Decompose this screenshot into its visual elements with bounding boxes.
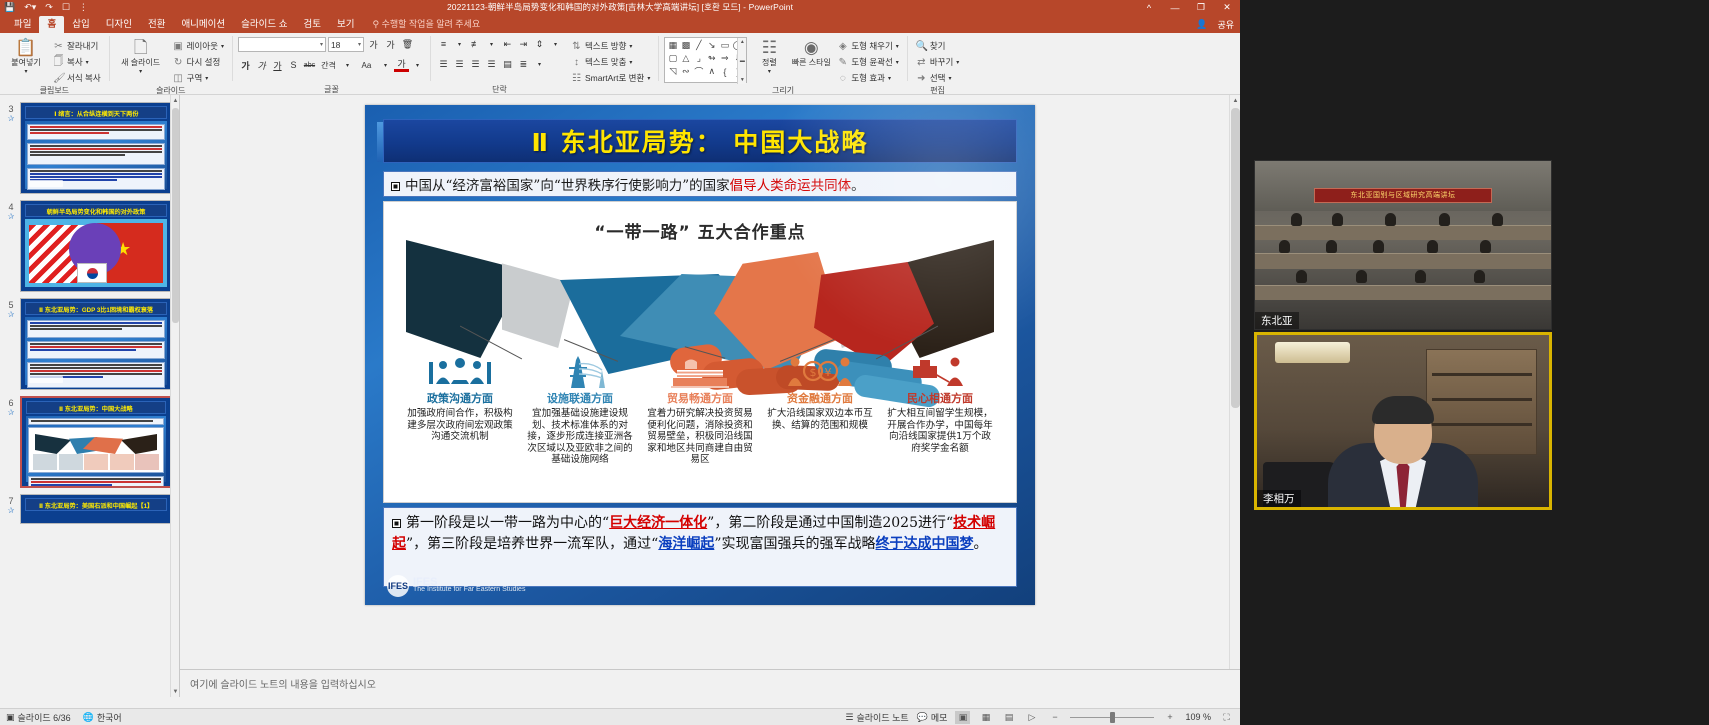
- people-exchange-icon: [886, 352, 994, 388]
- replace-icon: ⇄: [916, 57, 927, 68]
- participant-name-2: 李相万: [1257, 490, 1301, 507]
- language-indicator[interactable]: 🌐 한국어: [83, 711, 122, 724]
- infographic-column-trade: 贸易畅通方面 宜着力研究解决投资贸易便利化问题，消除投资和贸易壁垒，积极同沿线国…: [646, 352, 754, 502]
- zoom-in-button[interactable]: +: [1162, 711, 1177, 724]
- quick-styles-button[interactable]: ◉ 빠른 스타일: [791, 37, 831, 67]
- decrease-indent-icon[interactable]: ⇤: [500, 37, 515, 51]
- thumb-title-bar: Ⅰ 绪言：从合纵连横到天下两份: [25, 106, 167, 119]
- character-spacing-button[interactable]: 간격: [318, 58, 339, 72]
- editor-vertical-scrollbar[interactable]: ▲ ▼: [1229, 95, 1240, 697]
- thumb-text-block: [27, 320, 165, 338]
- language-label: 한국어: [97, 711, 122, 724]
- attendee: [1291, 213, 1302, 226]
- chevron-down-icon[interactable]: ▾: [24, 68, 27, 75]
- power-tower-icon: [526, 352, 634, 388]
- tell-me-box[interactable]: ⚲ 수행할 작업을 알려 주세요: [372, 17, 480, 33]
- notes-toggle-button[interactable]: ☰ 슬라이드 노트: [845, 711, 908, 724]
- thumb-title: 朝鲜半岛局势变化和韩国的对外政策: [47, 206, 146, 216]
- ifes-logo: IFES IFES The Institute for Far Eastern …: [387, 575, 525, 597]
- hall-wall: [1255, 161, 1551, 211]
- infographic-columns: 政策沟通方面 加强政府间合作，积极构建多层次政府间宏观政策沟通交流机制: [384, 352, 1016, 502]
- svg-text:$: $: [810, 366, 817, 379]
- ribbon-tab-bar: 파일 홈 삽입 디자인 전환 애니메이션 슬라이드 쇼 검토 보기 ⚲ 수행할 …: [0, 15, 1240, 33]
- chevron-down-icon[interactable]: ▾: [948, 75, 951, 82]
- attendee: [1332, 213, 1343, 226]
- elbow-connector-icon[interactable]: ⌟: [692, 52, 705, 65]
- chevron-down-icon[interactable]: ▾: [410, 58, 425, 72]
- chevron-down-icon[interactable]: ▾: [548, 37, 563, 51]
- thumb-text-block: [28, 476, 164, 488]
- bottom-highlight-1: 巨大经济一体化: [609, 515, 707, 531]
- increase-font-size-button[interactable]: 가: [366, 38, 381, 52]
- chevron-down-icon[interactable]: ▾: [896, 43, 899, 50]
- notes-toggle-label: 슬라이드 노트: [857, 711, 909, 724]
- font-size-input[interactable]: 18 ▾: [328, 37, 364, 52]
- tab-design[interactable]: 디자인: [98, 16, 140, 33]
- participant-tile-2-active[interactable]: 李相万: [1254, 332, 1552, 510]
- line-spacing-icon[interactable]: ⇕: [532, 37, 547, 51]
- bottom-highlight-3: 海洋崛起: [658, 536, 714, 552]
- right-arrow-shape-icon[interactable]: ⇒: [718, 52, 731, 65]
- tab-file[interactable]: 파일: [6, 16, 39, 33]
- chevron-down-icon[interactable]: ▾: [340, 58, 355, 72]
- italic-button[interactable]: 가: [254, 58, 269, 72]
- speaker-video: [1257, 335, 1549, 507]
- currency-exchange-icon: $ ¥: [766, 352, 874, 388]
- animation-star-icon: ✰: [2, 506, 20, 515]
- freeform-shape-icon[interactable]: ◹: [666, 65, 679, 78]
- justify-icon[interactable]: ☰: [484, 57, 499, 71]
- handshake-graphic: [384, 234, 1016, 369]
- left-brace-icon[interactable]: {: [718, 65, 731, 78]
- attendee: [1385, 213, 1396, 226]
- convert-smartart-label: SmartArt로 변환: [585, 72, 644, 84]
- thumb-title-bar: Ⅱ 东北亚局势：美国右派和中国崛起【1】: [25, 498, 167, 511]
- thumb-title: Ⅱ 东北亚局势：美国右派和中国崛起【1】: [39, 500, 153, 510]
- thumb-title-bar: Ⅱ 东北亚局势：GDP 3比1困境和霸权衰落: [25, 302, 167, 315]
- lecture-hall-video: 东北亚国别与区域研究高端讲坛: [1255, 161, 1551, 329]
- thumbnail-meta: 7 ✰: [2, 494, 20, 524]
- column-heading: 设施联通方面: [526, 390, 634, 406]
- column-heading: 资金融通方面: [766, 390, 874, 406]
- bullet-quote-2: “世界秩序行使影响力”: [554, 178, 689, 194]
- tab-view[interactable]: 보기: [329, 16, 362, 33]
- shape-fill-label: 도형 채우기: [851, 40, 892, 52]
- section-label: 구역: [187, 72, 203, 84]
- title-accent-bar: [377, 122, 383, 162]
- tab-insert[interactable]: 삽입: [64, 16, 97, 33]
- powerpoint-window: 💾 ↶▾ ↷ ☐ ⋮ 20221123-朝鲜半岛局势变化和韩国的对外政策[吉林大…: [0, 0, 1240, 725]
- comment-icon: 💬: [917, 712, 928, 723]
- chevron-down-icon[interactable]: ▾: [484, 37, 499, 51]
- slide-title-placeholder[interactable]: Ⅱ 东北亚局势： 中国大战略: [383, 119, 1017, 163]
- slide-number: 4: [2, 202, 20, 212]
- scroll-up-icon[interactable]: ▲: [740, 39, 745, 45]
- hall-desk-row-3: [1254, 285, 1552, 300]
- triangle-shape-icon[interactable]: △: [679, 52, 692, 65]
- scroll-thumb[interactable]: [1231, 108, 1240, 408]
- align-center-icon[interactable]: ☰: [452, 57, 467, 71]
- comments-label: 메모: [931, 711, 948, 724]
- bottom-part-3: ，第三阶段是培养世界一流军队，通过: [413, 536, 651, 552]
- attendee: [1439, 213, 1450, 226]
- font-size-value: 18: [331, 40, 340, 50]
- infographic-column-finance: $ ¥ 资金融通方面 扩大沿线国家双边本币互换、结算的范围和规模: [766, 352, 874, 502]
- group-paragraph-extra: ⇅ 텍스트 방향 ▾ ↕ 텍스트 맞춤 ▾ ☷ SmartArt로 변환: [568, 33, 658, 95]
- thumb-body: ★: [25, 219, 167, 287]
- chevron-down-icon[interactable]: ▾: [221, 43, 224, 50]
- arrow-shape-icon[interactable]: ↘: [705, 39, 718, 52]
- thumbnail-preview[interactable]: Ⅱ 东北亚局势：GDP 3比1困境和霸权衰落: [20, 298, 172, 390]
- chevron-down-icon[interactable]: ▾: [768, 68, 771, 75]
- tab-home[interactable]: 홈: [39, 16, 64, 33]
- find-label: 찾기: [930, 40, 946, 52]
- attendee: [1296, 270, 1307, 283]
- shape-gallery[interactable]: ▦ ▩ ╱ ↘ ▭ ◯ ▢ △ ⌟ ↬ ⇒ ⇓ ◹ ∾ ⌒: [664, 37, 747, 83]
- zoom-out-button[interactable]: −: [1047, 711, 1062, 724]
- new-slide-label: 새 슬라이드: [121, 58, 160, 67]
- section-icon: ◫: [173, 73, 184, 84]
- slide-title-text: Ⅱ 东北亚局势： 中国大战略: [532, 123, 869, 159]
- scroll-thumb[interactable]: [172, 108, 179, 323]
- copy-icon: 🗍: [53, 54, 64, 71]
- tab-transitions[interactable]: 전환: [140, 16, 173, 33]
- paste-icon: 📋: [15, 39, 36, 57]
- animation-star-icon: ✰: [2, 408, 20, 417]
- hall-desk-row-2: [1254, 253, 1552, 268]
- font-name-input[interactable]: ▾: [238, 37, 326, 52]
- select-label: 선택: [930, 72, 946, 84]
- slide-sorter-icon[interactable]: ▦: [978, 711, 993, 724]
- column-body: 宜加强基础设施建设规划、技术标准体系的对接，逐步形成连接亚洲各次区域以及亚欧非之…: [526, 408, 634, 466]
- video-panel-top-filler: [1240, 0, 1709, 160]
- chevron-down-icon[interactable]: ▾: [452, 37, 467, 51]
- column-body: 扩大相互间留学生规模，开展合作办学，中国每年向沿线国家提供1万个政府奖学金名额: [886, 408, 994, 454]
- group-drawing: ▦ ▩ ╱ ↘ ▭ ◯ ▢ △ ⌟ ↬ ⇒ ⇓ ◹ ∾ ⌒: [659, 33, 906, 95]
- font-color-button[interactable]: 가: [394, 58, 409, 72]
- ribbon-collapse-icon[interactable]: ^: [1136, 0, 1162, 15]
- scissors-icon: ✂: [53, 41, 64, 52]
- title-bar: 💾 ↶▾ ↷ ☐ ⋮ 20221123-朝鲜半岛局势变化和韩国的对外政策[吉林大…: [0, 0, 1240, 15]
- bottom-part-5: 。: [974, 536, 988, 552]
- belt-road-infographic[interactable]: “一带一路” 五大合作重点: [383, 201, 1017, 503]
- bullet-end: 。: [851, 178, 865, 194]
- layout-icon: ▣: [173, 41, 184, 52]
- hall-banner: 东北亚国别与区域研究高端讲坛: [1314, 188, 1492, 203]
- group-font: ▾ 18 ▾ 가 가 🗑 가 가 가 S: [233, 33, 430, 95]
- thumbnail-item-6[interactable]: 6 ✰ Ⅱ 东北亚局势：中国大战略: [0, 393, 179, 491]
- thumb-body: [26, 416, 166, 482]
- bullet-suffix: 的国家: [689, 178, 730, 194]
- ifes-logo-text: IFES The Institute for Far Eastern Studi…: [413, 578, 525, 594]
- share-button[interactable]: 공유: [1217, 18, 1234, 31]
- reset-button[interactable]: ↻ 다시 설정: [170, 55, 227, 69]
- shape-outline-label: 도형 윤곽선: [851, 56, 892, 68]
- comments-button[interactable]: 💬 메모: [917, 711, 948, 724]
- chevron-down-icon[interactable]: ▾: [86, 59, 89, 66]
- change-case-button[interactable]: Aa: [356, 58, 377, 72]
- align-text-label: 텍스트 맞춤: [585, 56, 626, 68]
- svg-text:¥: ¥: [825, 366, 832, 379]
- shape-effects-label: 도형 효과: [851, 72, 885, 84]
- column-body: 宜着力研究解决投资贸易便利化问题，消除投资和贸易壁垒，积极同沿线国家和地区共同商…: [646, 408, 754, 466]
- minimize-button[interactable]: —: [1162, 0, 1188, 15]
- callout-shape-icon[interactable]: ▩: [679, 39, 692, 52]
- group-editing: 🔍 찾기 ⇄ 바꾸기 ▾ ➜ 선택 ▾: [908, 33, 967, 95]
- arrange-button[interactable]: ☷ 정렬 ▾: [750, 37, 788, 75]
- account-icon[interactable]: 👤: [1196, 19, 1207, 30]
- text-direction-button[interactable]: ⇅ 텍스트 방향 ▾: [568, 39, 653, 53]
- chevron-down-icon[interactable]: ▾: [378, 58, 393, 72]
- clear-formatting-icon[interactable]: 🗑: [400, 38, 415, 52]
- ifes-subtitle: The Institute for Far Eastern Studies: [413, 586, 525, 593]
- layout-button[interactable]: ▣ 레이아웃 ▾: [170, 39, 227, 53]
- tab-slideshow[interactable]: 슬라이드 쇼: [233, 16, 295, 33]
- bullet-square-icon: [392, 519, 401, 528]
- attendee: [1427, 240, 1438, 253]
- rectangle-shape-icon[interactable]: ▭: [718, 39, 731, 52]
- notes-pane[interactable]: 여기에 슬라이드 노트의 내용을 입력하십시오: [180, 669, 1240, 697]
- brush-icon: 🖌: [53, 73, 64, 84]
- bottom-part-1: 第一阶段是以一带一路为中心的: [406, 515, 602, 531]
- bullets-icon[interactable]: ≡: [436, 37, 451, 51]
- curved-arrow-icon[interactable]: ↬: [705, 52, 718, 65]
- thumbnail-preview[interactable]: 朝鲜半岛局势变化和韩国的对外政策 ★: [20, 200, 172, 292]
- zoom-level-label[interactable]: 109 %: [1185, 712, 1211, 722]
- slideshow-icon[interactable]: ▷: [1024, 711, 1039, 724]
- shape-gallery-scrollbar[interactable]: ▲ ▬ ▼: [737, 38, 746, 84]
- reading-view-icon[interactable]: ▤: [1001, 711, 1016, 724]
- close-button[interactable]: ✕: [1214, 0, 1240, 15]
- slide-icon: ▣: [6, 712, 15, 723]
- chevron-down-icon[interactable]: ▾: [139, 68, 142, 75]
- lightbulb-icon: ⚲: [372, 19, 379, 29]
- thumbnail-preview[interactable]: Ⅰ 绪言：从合纵连横到天下两份: [20, 102, 172, 194]
- text-direction-small-icon[interactable]: ≣: [516, 57, 531, 71]
- decrease-font-size-button[interactable]: 가: [383, 38, 398, 52]
- chevron-down-icon[interactable]: ▾: [629, 59, 632, 66]
- chevron-down-icon[interactable]: ▾: [358, 41, 361, 48]
- cut-button[interactable]: ✂ 잘라내기: [50, 39, 104, 53]
- policy-meeting-icon: [406, 352, 514, 388]
- slide-editor[interactable]: Ⅱ 东北亚局势： 中国大战略 中国从“经济富裕国家”向“世界秩序行使影响力”的国…: [180, 95, 1240, 697]
- chevron-down-icon[interactable]: ▾: [896, 59, 899, 66]
- group-clipboard: 📋 붙여넣기 ▾ ✂ 잘라내기 🗍 복사 ▾: [0, 33, 109, 95]
- thumb-text-block: [27, 341, 165, 359]
- slide-number: 3: [2, 104, 20, 114]
- speaker-figure: [1321, 400, 1485, 507]
- smartart-icon: ☷: [571, 73, 582, 84]
- slide-top-bullet-text: 中国从“经济富裕国家”向“世界秩序行使影响力”的国家倡导人类命运共同体。: [391, 174, 865, 194]
- chevron-down-icon[interactable]: ▾: [888, 75, 891, 82]
- chevron-down-icon[interactable]: ▾: [647, 75, 650, 82]
- line-shape-icon[interactable]: ╱: [692, 39, 705, 52]
- group-label-paragraph: 단락: [436, 84, 563, 95]
- scroll-up-icon[interactable]: ▲: [1230, 95, 1240, 107]
- participant-tile-1[interactable]: 东北亚国别与区域研究高端讲坛 东北亚: [1254, 160, 1552, 330]
- zoom-slider[interactable]: [1070, 711, 1154, 724]
- effects-icon: ◌: [837, 73, 848, 84]
- align-left-icon[interactable]: ☰: [436, 57, 451, 71]
- search-icon: 🔍: [916, 41, 927, 52]
- screen-root: 💾 ↶▾ ↷ ☐ ⋮ 20221123-朝鲜半岛局势变化和韩国的对外政策[吉林大…: [0, 0, 1709, 725]
- replace-label: 바꾸기: [930, 56, 953, 68]
- slide-number: 6: [2, 398, 20, 408]
- textbox-shape-icon[interactable]: ▦: [666, 39, 679, 52]
- thumb-logo: [29, 180, 63, 187]
- paste-button[interactable]: 📋 붙여넣기 ▾: [5, 37, 47, 75]
- thumbnail-preview-selected[interactable]: Ⅱ 东北亚局势：中国大战略: [20, 396, 172, 488]
- convert-smartart-button[interactable]: ☷ SmartArt로 변환 ▾: [568, 71, 653, 85]
- increase-indent-icon[interactable]: ⇥: [516, 37, 531, 51]
- thumbnail-meta: 4 ✰: [2, 200, 20, 292]
- chevron-down-icon[interactable]: ▾: [320, 41, 323, 48]
- bottom-highlight-4: 终于达成中国梦: [876, 536, 974, 552]
- attendee: [1356, 270, 1367, 283]
- thumbnail-meta: 6 ✰: [2, 396, 20, 488]
- thumb-logo: [29, 376, 63, 383]
- thumbnail-item-7[interactable]: 7 ✰ Ⅱ 东北亚局势：美国右派和中国崛起【1】: [0, 491, 179, 527]
- reset-label: 다시 설정: [187, 56, 221, 68]
- slide-counter-label: 슬라이드 6/36: [18, 711, 71, 724]
- arc-shape-icon[interactable]: ⌒: [692, 65, 705, 78]
- group-paragraph: ≡ ▾ ≢ ▾ ⇤ ⇥ ⇕ ▾ ☰ ☰ ☰ ☰ ▤: [431, 33, 568, 95]
- text-shadow-button[interactable]: S: [286, 58, 301, 72]
- copy-button[interactable]: 🗍 복사 ▾: [50, 55, 104, 69]
- chevron-down-icon[interactable]: ▾: [629, 43, 632, 50]
- fit-to-window-icon[interactable]: ⛶: [1219, 711, 1234, 724]
- arrange-icon: ☷: [762, 39, 777, 57]
- hall-desk-row-1: [1254, 225, 1552, 240]
- fill-bucket-icon: ◈: [837, 41, 848, 52]
- thumb-text-block: [28, 418, 164, 425]
- infographic-column-people: 民心相通方面 扩大相互间留学生规模，开展合作办学，中国每年向沿线国家提供1万个政…: [886, 352, 994, 502]
- cut-label: 잘라내기: [67, 40, 98, 52]
- scroll-down-icon[interactable]: ▼: [171, 686, 180, 697]
- zoom-handle[interactable]: [1110, 712, 1115, 723]
- tab-animations[interactable]: 애니메이션: [173, 16, 233, 33]
- arrange-label: 정렬: [762, 58, 777, 67]
- thumbnail-scrollbar[interactable]: ▲ ▼: [170, 95, 179, 697]
- attendee: [1279, 240, 1290, 253]
- align-text-button[interactable]: ↕ 텍스트 맞춤 ▾: [568, 55, 653, 69]
- thumb-infographic: [28, 427, 164, 473]
- attendee: [1480, 240, 1491, 253]
- bold-button[interactable]: 가: [238, 58, 253, 72]
- window-controls[interactable]: ^ — ❐ ✕: [1136, 0, 1240, 15]
- layout-label: 레이아웃: [187, 40, 218, 52]
- bullet-quote-1: “经济富裕国家”: [446, 178, 541, 194]
- thumb-text-block: [27, 124, 165, 140]
- thumbnail-item-5[interactable]: 5 ✰ Ⅱ 东北亚局势：GDP 3比1困境和霸权衰落: [0, 295, 179, 393]
- thumb-title-bar: 朝鲜半岛局势变化和韩国的对外政策: [25, 204, 167, 217]
- column-heading: 贸易畅通方面: [646, 390, 754, 406]
- group-label-font: 글꼴: [238, 84, 425, 95]
- shape-fill-button[interactable]: ◈ 도형 채우기 ▾: [834, 39, 901, 53]
- slide-bottom-bullet-text: 第一阶段是以一带一路为中心的“巨大经济一体化”，第二阶段是通过中国制造2025进…: [392, 513, 1008, 555]
- scroll-up-icon[interactable]: ▲: [171, 95, 180, 106]
- column-body: 扩大沿线国家双边本币互换、结算的范围和规模: [766, 408, 874, 431]
- slide-counter[interactable]: ▣ 슬라이드 6/36: [6, 711, 71, 724]
- thumbnail-preview[interactable]: Ⅱ 东北亚局势：美国右派和中国崛起【1】: [20, 494, 172, 524]
- group-slides: 🗋 새 슬라이드 ▾ ▣ 레이아웃 ▾ ↻ 다시 설정: [110, 33, 232, 95]
- thumb-body: [25, 317, 167, 385]
- cargo-ship-icon: [646, 352, 754, 388]
- new-slide-button[interactable]: 🗋 새 슬라이드 ▾: [115, 37, 167, 75]
- hair: [1372, 396, 1434, 424]
- chevron-down-icon[interactable]: ▾: [205, 75, 208, 82]
- video-panel-bottom-filler: [1240, 510, 1709, 725]
- rounded-rect-shape-icon[interactable]: ▢: [666, 52, 679, 65]
- animation-star-icon: ✰: [2, 310, 20, 319]
- columns-icon[interactable]: ▤: [500, 57, 515, 71]
- korea-flag-graphic: [77, 263, 107, 283]
- infographic-column-facilities: 设施联通方面 宜加强基础设施建设规划、技术标准体系的对接，逐步形成连接亚洲各次区…: [526, 352, 634, 502]
- attendee: [1492, 213, 1503, 226]
- slide-canvas[interactable]: Ⅱ 东北亚局势： 中国大战略 中国从“经济富裕国家”向“世界秩序行使影响力”的国…: [365, 105, 1035, 605]
- slide-top-bullet-box[interactable]: 中国从“经济富裕国家”向“世界秩序行使影响力”的国家倡导人类命运共同体。: [383, 171, 1017, 197]
- replace-button[interactable]: ⇄ 바꾸기 ▾: [913, 55, 962, 69]
- video-conference-panel: 东北亚国别与区域研究高端讲坛 东北亚: [1240, 0, 1709, 725]
- ribbon-right-actions[interactable]: 👤 공유: [1196, 18, 1234, 31]
- restore-button[interactable]: ❐: [1188, 0, 1214, 15]
- format-painter-label: 서식 복사: [67, 72, 101, 84]
- select-button[interactable]: ➜ 선택 ▾: [913, 71, 962, 85]
- gallery-more-icon[interactable]: ▼: [740, 77, 745, 83]
- thumb-title: Ⅱ 东北亚局势：中国大战略: [59, 403, 133, 413]
- normal-view-icon[interactable]: ▣: [955, 711, 970, 724]
- globe-icon: 🌐: [83, 712, 94, 723]
- tell-me-label: 수행할 작업을 알려 주세요: [382, 19, 481, 29]
- align-right-icon[interactable]: ☰: [468, 57, 483, 71]
- scroll-thumb[interactable]: ▬: [740, 58, 745, 64]
- ifes-name: IFES: [413, 578, 525, 586]
- bottom-part-2: ，第二阶段是通过中国制造2025进行: [714, 515, 946, 531]
- thumb-text-block: [27, 362, 165, 388]
- format-painter-button[interactable]: 🖌 서식 복사: [50, 71, 104, 85]
- numbering-icon[interactable]: ≢: [468, 37, 483, 51]
- paste-label: 붙여넣기: [11, 58, 40, 67]
- underline-button[interactable]: 가: [270, 58, 285, 72]
- chevron-down-icon[interactable]: ▾: [956, 59, 959, 66]
- text-direction-label: 텍스트 방향: [585, 40, 626, 52]
- tab-review[interactable]: 검토: [295, 16, 328, 33]
- thumb-title-bar: Ⅱ 东北亚局势：中国大战略: [26, 401, 166, 414]
- find-button[interactable]: 🔍 찾기: [913, 39, 962, 53]
- scribble-shape-icon[interactable]: ∾: [679, 65, 692, 78]
- strikethrough-button[interactable]: abc: [302, 58, 317, 72]
- animation-star-icon: ✰: [2, 212, 20, 221]
- shape-outline-button[interactable]: ✎ 도형 윤곽선 ▾: [834, 55, 901, 69]
- slide-number: 7: [2, 496, 20, 506]
- cursor-icon: ➜: [916, 73, 927, 84]
- notes-icon: ☰: [845, 712, 853, 723]
- thumbnail-item-3[interactable]: 3 ✰ Ⅰ 绪言：从合纵连横到天下两份: [0, 99, 179, 197]
- chord-shape-icon[interactable]: ∧: [705, 65, 718, 78]
- window-title: 20221123-朝鲜半岛局势变化和韩国的对外政策[吉林大学高端讲坛] [호환 …: [0, 0, 1240, 15]
- ribbon: 📋 붙여넣기 ▾ ✂ 잘라내기 🗍 복사 ▾: [0, 33, 1240, 95]
- slide-thumbnail-panel[interactable]: 3 ✰ Ⅰ 绪言：从合纵连横到天下两份: [0, 95, 180, 697]
- new-slide-icon: 🗋: [134, 39, 148, 57]
- ceiling-light: [1275, 342, 1351, 363]
- status-right: ☰ 슬라이드 노트 💬 메모 ▣ ▦ ▤ ▷ − + 109 % ⛶: [845, 711, 1240, 724]
- animation-star-icon: ✰: [2, 114, 20, 123]
- slide-number: 5: [2, 300, 20, 310]
- shape-effects-button[interactable]: ◌ 도형 효과 ▾: [834, 71, 901, 85]
- chevron-down-icon[interactable]: ▾: [532, 57, 547, 71]
- thumbnail-item-4[interactable]: 4 ✰ 朝鲜半岛局势变化和韩国的对外政策 ★: [0, 197, 179, 295]
- section-button[interactable]: ◫ 구역 ▾: [170, 71, 227, 85]
